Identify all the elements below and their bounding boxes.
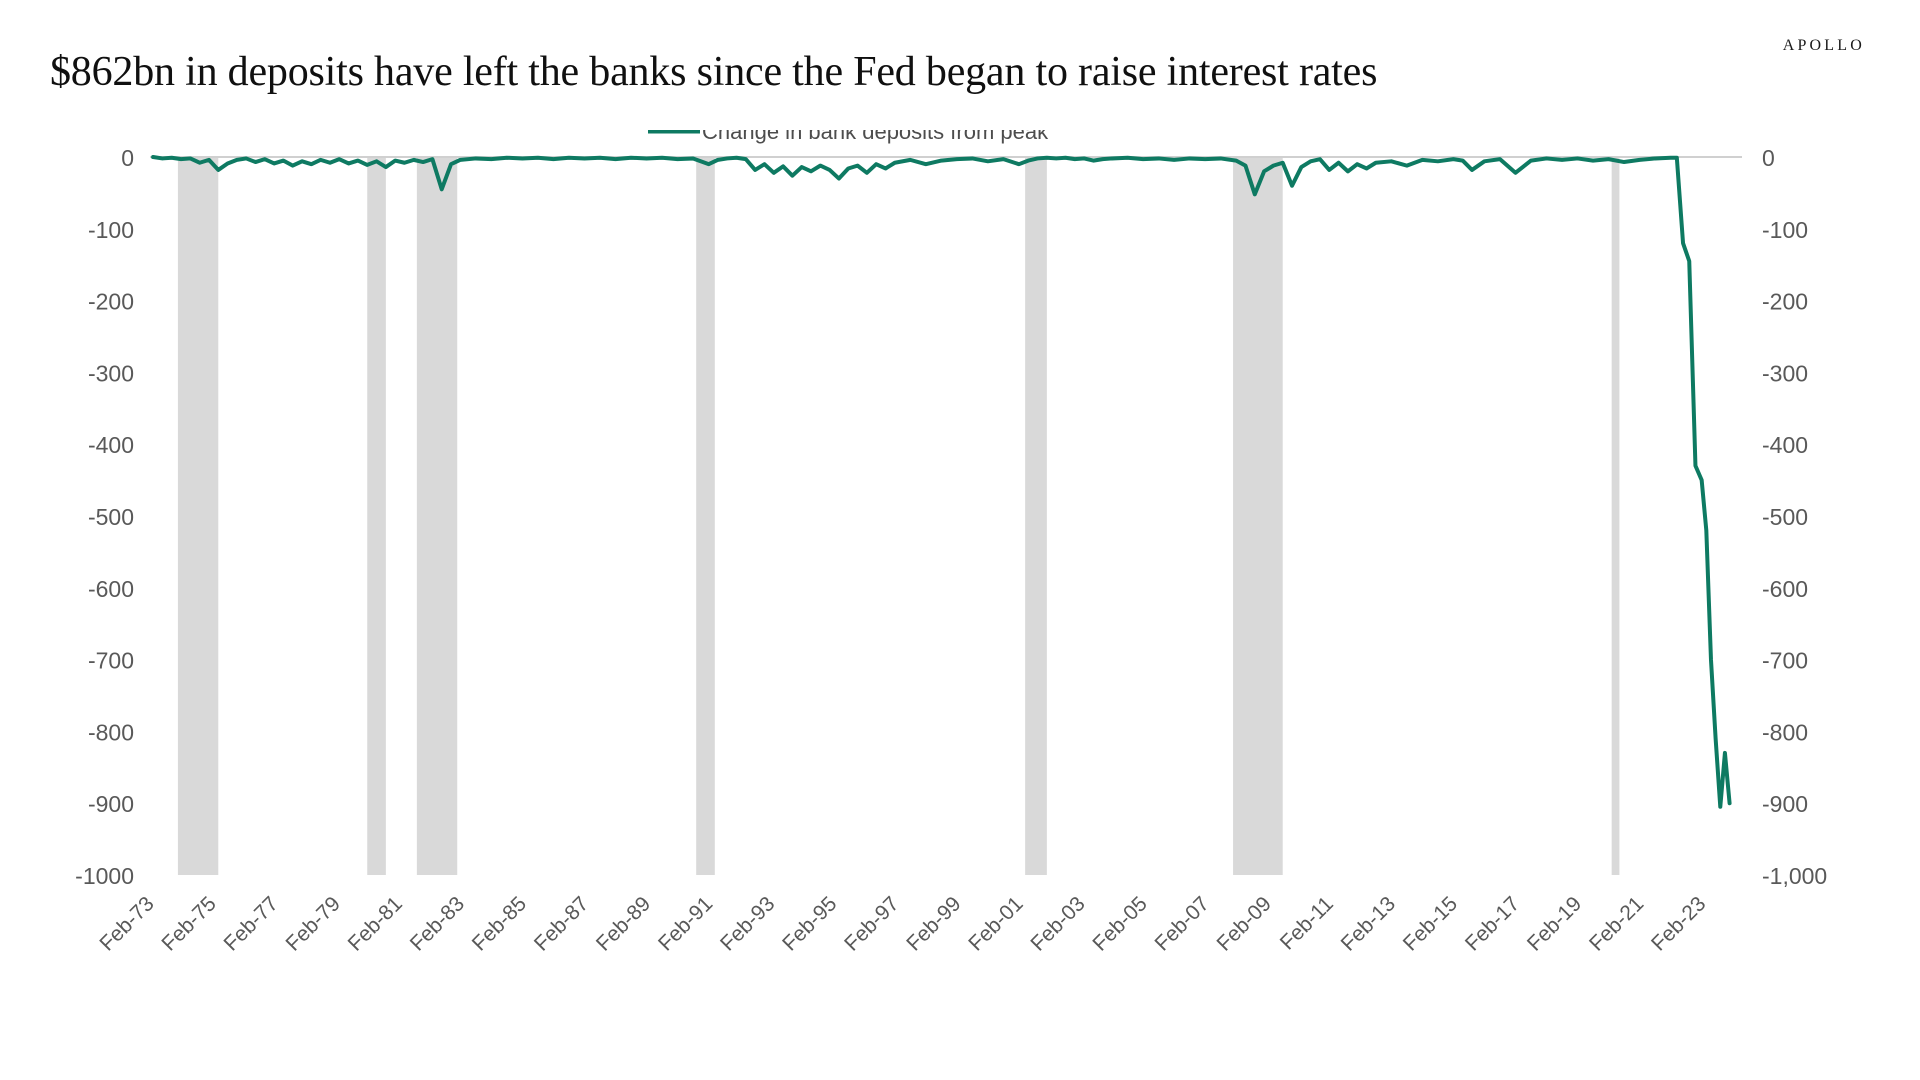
left-axis-tick-label: -300 [88,360,134,386]
right-axis-tick-label: -900 [1762,791,1808,817]
apollo-logo: APOLLO [1783,37,1865,55]
x-axis-tick-label: Feb-89 [592,892,655,955]
x-axis-tick-label: Feb-03 [1026,892,1089,955]
x-axis-tick-label: Feb-19 [1523,892,1586,955]
right-axis-tick-label: -300 [1762,360,1808,386]
x-axis-tick-label: Feb-01 [964,892,1027,955]
series-change-in-bank-deposits [153,157,1729,807]
chart-page: APOLLO $862bn in deposits have left the … [0,0,1920,1080]
left-axis-tick-label: -900 [88,791,134,817]
x-axis-tick-label: Feb-79 [282,892,345,955]
legend-series-label: Change in bank deposits from peak [702,130,1049,144]
x-axis-tick-label: Feb-13 [1337,892,1400,955]
right-axis-tick-label: -800 [1762,719,1808,745]
x-axis-tick-label: Feb-81 [344,892,407,955]
x-axis-tick-label: Feb-87 [530,892,593,955]
x-axis-tick-label: Feb-77 [220,892,283,955]
x-axis-tick-label: Feb-85 [468,892,531,955]
x-axis-tick-label: Feb-93 [716,892,779,955]
left-axis: $ bn0-100-200-300-400-500-600-700-800-90… [75,130,134,889]
right-axis-tick-label: -600 [1762,576,1808,602]
x-axis-tick-label: Feb-97 [840,892,903,955]
right-axis-tick-label: -400 [1762,432,1808,458]
x-axis-tick-label: Feb-99 [902,892,965,955]
x-axis-tick-label: Feb-11 [1276,892,1338,954]
recession-band [1233,157,1283,875]
recession-band [1025,157,1047,875]
left-axis-tick-label: -600 [88,576,134,602]
x-axis-tick-label: Feb-91 [654,892,717,955]
recession-band [696,157,715,875]
x-axis-tick-label: Feb-95 [778,892,841,955]
right-axis: $ bn0-100-200-300-400-500-600-700-800-90… [1762,130,1827,889]
series-line [153,157,1729,807]
left-axis-tick-label: -1000 [75,863,134,889]
right-axis-tick-label: 0 [1762,145,1775,171]
right-axis-tick-label: -200 [1762,289,1808,315]
x-axis-tick-label: Feb-05 [1088,892,1151,955]
x-axis-tick-label: Feb-23 [1647,892,1710,955]
right-axis-tick-label: -100 [1762,217,1808,243]
deposits-line-chart: $ bn0-100-200-300-400-500-600-700-800-90… [0,130,1920,1010]
left-axis-tick-label: -400 [88,432,134,458]
x-axis: Feb-73Feb-75Feb-77Feb-79Feb-81Feb-83Feb-… [95,892,1710,955]
x-axis-tick-label: Feb-09 [1213,892,1276,955]
page-title: $862bn in deposits have left the banks s… [50,48,1377,96]
x-axis-tick-label: Feb-21 [1585,892,1648,955]
right-axis-tick-label: -700 [1762,648,1808,674]
left-axis-tick-label: -100 [88,217,134,243]
x-axis-tick-label: Feb-07 [1151,892,1214,955]
left-axis-tick-label: -700 [88,648,134,674]
x-axis-tick-label: Feb-75 [157,892,220,955]
left-axis-tick-label: -200 [88,289,134,315]
x-axis-tick-label: Feb-73 [95,892,158,955]
right-axis-tick-label: -500 [1762,504,1808,530]
recession-band [178,157,218,875]
x-axis-tick-label: Feb-15 [1399,892,1462,955]
recession-band [417,157,457,875]
x-axis-tick-label: Feb-17 [1461,892,1524,955]
chart-legend[interactable]: Change in bank deposits from peak [648,130,1049,144]
chart-container: $ bn0-100-200-300-400-500-600-700-800-90… [0,130,1920,1010]
recession-band [1612,157,1620,875]
recession-band [367,157,386,875]
recession-bands [178,157,1619,875]
left-axis-tick-label: -800 [88,719,134,745]
right-axis-tick-label: -1,000 [1762,863,1827,889]
x-axis-tick-label: Feb-83 [406,892,469,955]
left-axis-tick-label: 0 [121,145,134,171]
left-axis-tick-label: -500 [88,504,134,530]
